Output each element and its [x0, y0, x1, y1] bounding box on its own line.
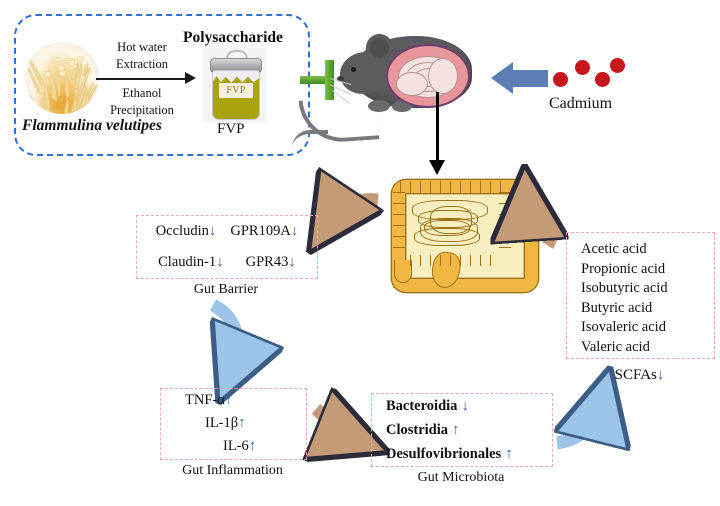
scfa-item: Propionic acid	[581, 260, 714, 280]
cadmium-label: Cadmium	[549, 96, 612, 112]
gut-inflammation-box: TNF-α IL-1β IL-6	[160, 388, 307, 460]
cadmium-arrow-shaft	[512, 70, 548, 87]
jar-body-icon: FVP	[212, 70, 260, 120]
inhibition-bar-icon	[300, 76, 326, 84]
gut-microbiota-caption: Gut Microbiota	[371, 471, 551, 485]
mouse-gut-cutaway-icon	[386, 44, 470, 108]
marker-arrow-claudin-1	[216, 255, 224, 270]
scfa-caption-arrow	[657, 368, 665, 383]
marker-label-gpr43: GPR43	[246, 254, 289, 271]
fvp-product-label: FVP	[217, 122, 245, 137]
mouse-to-intestine-arrow-head-icon	[429, 160, 445, 175]
scfa-caption: SCFAs	[615, 367, 657, 384]
scfa-item: Isovaleric acid	[581, 318, 714, 338]
scfa-item: Isobutyric acid	[581, 279, 714, 299]
gut-inflammation-caption: Gut Inflammation	[160, 464, 305, 478]
marker-label-occludin: Occludin	[156, 223, 209, 240]
extraction-step-line4: Precipitation	[87, 104, 197, 117]
reaction-arrow-shaft	[96, 78, 188, 80]
cadmium-particle-icon	[553, 72, 568, 87]
arrow-gut-barrier-to-inflammation	[213, 305, 238, 368]
cadmium-particle-icon	[610, 58, 625, 73]
marker-arrow-gpr109a	[291, 224, 299, 239]
scfa-item: Valeric acid	[581, 338, 714, 358]
marker-arrow-tnf-alpha	[225, 393, 233, 408]
marker-label-tnf-alpha: TNF-α	[185, 392, 225, 409]
marker-label-desulfovibrionales: Desulfovibrionales	[386, 446, 501, 463]
intestine-illustration	[388, 176, 520, 290]
marker-arrow-desulfovibrionales	[505, 447, 513, 462]
polysaccharide-title: Polysaccharide	[183, 30, 283, 46]
marker-label-claudin-1: Claudin-1	[158, 254, 216, 271]
marker-arrow-il-6	[249, 439, 257, 454]
cadmium-particle-icon	[575, 60, 590, 75]
mouse-eye	[351, 67, 356, 72]
scfa-item: Acetic acid	[581, 240, 714, 260]
reaction-arrow-head-icon	[185, 72, 196, 84]
diagram-canvas: Hot water Extraction Ethanol Precipitati…	[0, 0, 720, 506]
marker-label-il-1beta: IL-1β	[205, 415, 238, 432]
marker-arrow-bacteroidia	[461, 399, 469, 414]
cadmium-particle-icon	[595, 72, 610, 87]
jar-label-text: FVP	[219, 83, 253, 98]
gut-barrier-box: Occludin GPR109A Claudin-1 GPR43	[136, 215, 318, 279]
extraction-step-line2: Extraction	[87, 58, 197, 71]
marker-label-gpr109a: GPR109A	[230, 223, 290, 240]
arrow-inflammation-to-microbiota	[316, 409, 353, 438]
source-species-label: Flammulina velutipes	[22, 118, 162, 134]
marker-label-clostridia: Clostridia	[386, 422, 448, 439]
scfa-box: Acetic acid Propionic acid Isobutyric ac…	[566, 232, 715, 359]
gut-microbiota-box: Bacteroidia Clostridia Desulfovibrionale…	[371, 393, 553, 467]
arrow-microbiota-to-scfas	[557, 404, 601, 443]
extraction-step-line1: Hot water	[87, 41, 197, 54]
marker-arrow-il-1beta	[238, 416, 246, 431]
marker-arrow-clostridia	[452, 423, 460, 438]
arrow-intestine-to-gut-barrier	[330, 200, 378, 221]
marker-arrow-occludin	[209, 224, 217, 239]
marker-arrow-gpr43	[288, 255, 296, 270]
marker-label-bacteroidia: Bacteroidia	[386, 398, 457, 415]
mouse-to-intestine-arrow-shaft	[436, 92, 439, 164]
marker-label-il-6: IL-6	[223, 438, 249, 455]
extraction-step-line3: Ethanol	[87, 87, 197, 100]
gut-barrier-caption: Gut Barrier	[136, 283, 316, 297]
mouse-ear	[366, 34, 393, 62]
mouse-foot	[368, 100, 390, 112]
scfa-item: Butyric acid	[581, 299, 714, 319]
cadmium-arrow-head-icon	[491, 62, 513, 94]
